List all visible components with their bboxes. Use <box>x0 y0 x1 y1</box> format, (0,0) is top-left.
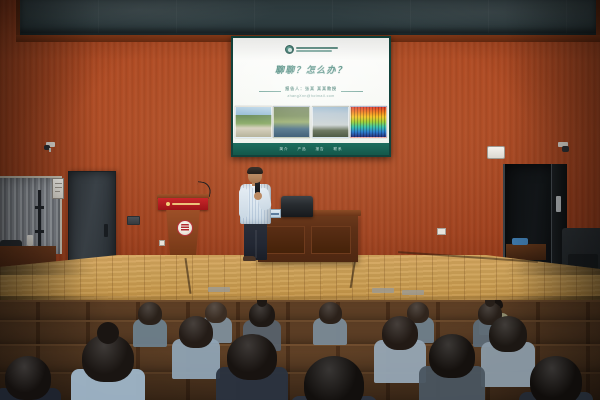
audience-member-head <box>530 356 582 400</box>
audience-member-head <box>319 302 342 324</box>
audience-member-hair-bun <box>97 322 119 344</box>
floor-outlet-2 <box>372 288 394 293</box>
audience-member-head <box>489 316 527 352</box>
audience-member-head <box>179 316 213 348</box>
audience-member-head <box>205 302 227 323</box>
lecture-hall-photo: 聊聊？怎么办？ 报告人：张某 某某教授 zhangXnn@hotmail.com… <box>0 0 600 400</box>
audience-area <box>0 300 600 400</box>
audience-member-head <box>429 334 475 378</box>
floor-outlet-3 <box>402 290 424 295</box>
audience-member-head <box>138 302 162 325</box>
audience-member-head <box>227 334 277 380</box>
audience-member-head <box>5 356 51 400</box>
audience-member-head <box>382 316 418 350</box>
floor-outlet-1 <box>208 287 230 292</box>
wall-vignette <box>0 0 600 275</box>
